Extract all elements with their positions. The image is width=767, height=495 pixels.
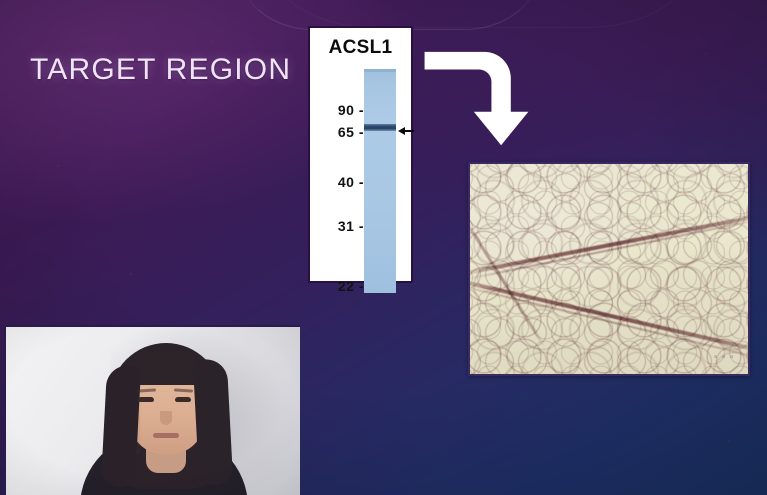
molecular-weight-ladder: 90 - 65 - 40 - 31 - 22 - (318, 66, 364, 278)
mw-marker-22: 22 - (338, 278, 364, 294)
western-blot-panel: ACSL1 90 - 65 - 40 - 31 - 22 - (308, 26, 413, 283)
protein-band (364, 124, 396, 131)
webcam-vignette (6, 327, 300, 495)
mw-marker-65: 65 - (338, 124, 364, 140)
micrograph-corner-marks: a a a (714, 354, 734, 360)
presentation-slide: TARGET REGION ACSL1 90 - 65 - 40 - 31 - … (0, 0, 767, 495)
mw-marker-40: 40 - (338, 174, 364, 190)
micrograph-softening-overlay (470, 164, 748, 374)
micrograph-image: a a a (470, 164, 748, 374)
band-pointer-arrow-icon (398, 127, 414, 136)
curved-down-arrow-icon (414, 44, 530, 160)
mw-marker-90: 90 - (338, 102, 364, 118)
histology-micrograph: a a a (468, 162, 750, 376)
page-title: TARGET REGION (30, 53, 291, 87)
band-pointer-head (398, 127, 405, 135)
mw-marker-31: 31 - (338, 218, 364, 234)
blot-lane (364, 69, 396, 293)
lane-top-edge (364, 69, 396, 72)
presenter-video-feed[interactable] (4, 325, 300, 495)
blot-protein-label: ACSL1 (310, 37, 411, 59)
